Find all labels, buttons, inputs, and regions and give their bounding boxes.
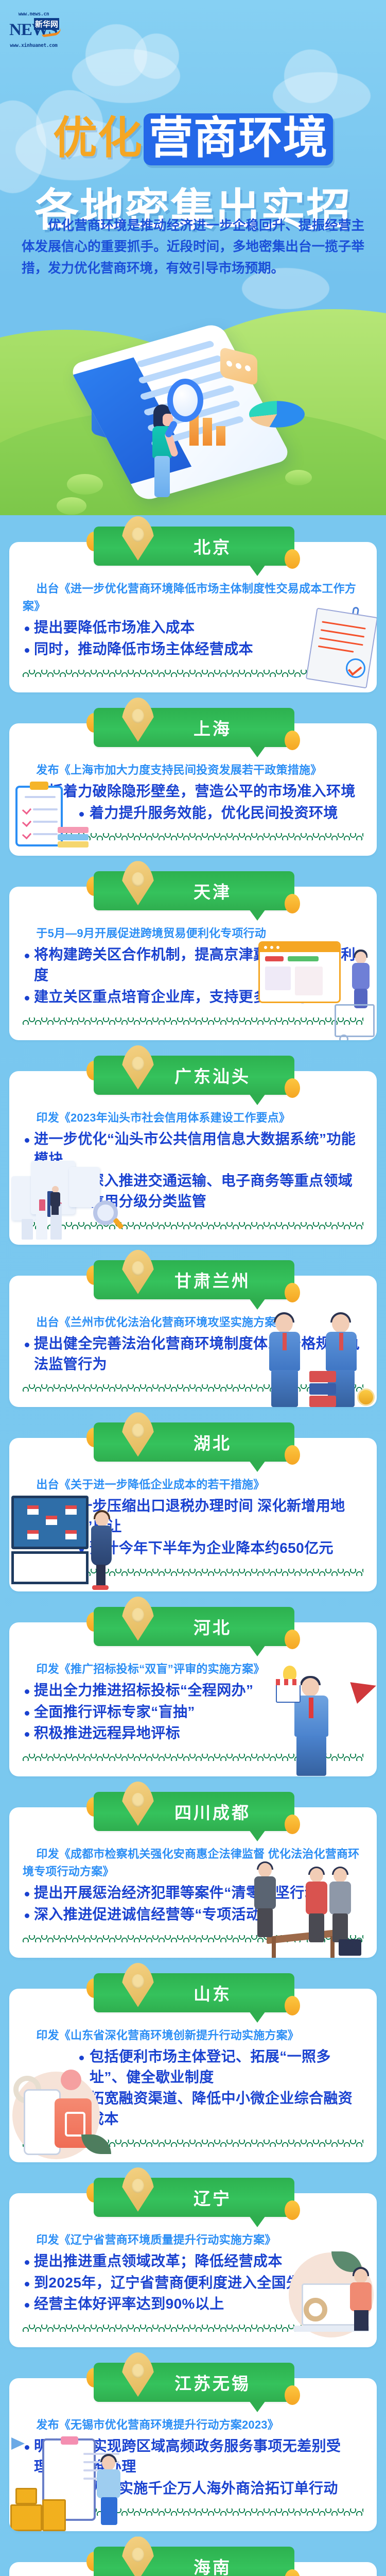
measure-bullet: 深入推进交通运输、电子商务等重点领域信用分级分类监管 [90,1171,363,1212]
hero-header: www.news.cn NEWS 新华网 www.xinhuanet.com 优… [0,0,386,515]
policy-document-title: 印发《山东省深化营商环境创新提升行动实施方案》 [23,2027,363,2044]
measures-list: 明确进一步压缩出口退税办理时间 深化新增用地“标准地”出让预计今年下半年为企业降… [23,1496,363,1558]
policy-document-title: 出台《进一步优化营商环境降低市场主体制度性交易成本工作方案》 [23,580,363,615]
region-tag-row: 北京 [9,515,377,569]
measures-list: 将构建跨关区合作机制，提高京津冀区域通关便利度建立关区重点培育企业库，支持更多企… [23,944,363,1007]
measure-bullet: 包括着力破除隐形壁垒，营造公平的市场准入环境 [23,781,363,802]
dot-decoration [285,1445,300,1465]
measures-list: 进一步优化“汕头市公共信用信息大数据系统”功能模块深入推进交通运输、电子商务等重… [23,1129,363,1212]
measure-bullet: 大力实施千企万人海外商洽拓订单行动 [90,2478,363,2499]
measures-list: 包括着力破除隐形壁垒，营造公平的市场准入环境着力提升服务效能，优化民间投资环境 [23,781,363,823]
measures-list: 明确推动实现跨区域高频政务服务事项无差别受理、同标准办理大力实施千企万人海外商洽… [23,2436,363,2498]
measure-bullet: 同时，推动降低市场主体经营成本 [23,639,363,659]
measure-bullet: 深入推进促进诚信经营等“专项活动” [23,1904,363,1925]
region-tag-row: 辽宁 [9,2166,377,2220]
hero-illustration [77,319,309,510]
policy-document-title: 发布《无锡市优化营商环境提升行动方案2023》 [23,2416,363,2434]
policy-document-title: 印发《成都市检察机关强化安商惠企法律监督 优化法治化营商环境专项行动方案》 [23,1845,363,1880]
dot-decoration [285,549,300,569]
title-part-2: 营商环境 [144,113,333,165]
dot-decoration [285,1815,300,1834]
policy-document-title: 印发《2023年汕头市社会信用体系建设工作要点》 [23,1109,363,1127]
measures-list: 包括便利市场主体登记、拓展“一照多址”、健全歇业制度拓宽融资渠道、降低中小微企业… [23,2046,363,2129]
policy-document-title: 发布《上海市加大力度支持民间投资发展若干政策措施》 [23,761,363,779]
dot-decoration [285,894,300,913]
measures-list: 提出开展惩治经济犯罪等案件“清零攻坚行动”深入推进促进诚信经营等“专项活动” [23,1883,363,1925]
measures-list: 提出推进重点领域改革；降低经营成本到2025年，辽宁省营商便利度进入全国先进行列… [23,2251,363,2314]
region-section: 海南 印发《热带雨林工程建设项目领域“极简审批”制度改革实施方案》 明确建设项目… [0,2535,386,2576]
measure-bullet: 建立关区重点培育企业库，支持更多企业享惠 [23,987,363,1007]
pie-chart-icon [249,391,305,438]
region-section: 四川成都 印发《成都市检察机关强化安商惠企法律监督 优化法治化营商环境专项行动方… [0,1781,386,1962]
cloud-decoration [273,72,371,120]
region-section: 辽宁 印发《辽宁省营商环境质量提升行动实施方案》 提出推进重点领域改革；降低经营… [0,2166,386,2351]
region-section: 山东 印发《山东省深化营商环境创新提升行动实施方案》 包括便利市场主体登记、拓展… [0,1962,386,2166]
measure-bullet: 着力提升服务效能，优化民间投资环境 [90,803,363,823]
region-tag-row: 天津 [9,860,377,913]
measure-bullet: 提出全力推进招标投标“全程网办” [23,1680,363,1701]
measures-list: 提出要降低市场准入成本同时，推动降低市场主体经营成本 [23,617,363,659]
infographic-page: www.news.cn NEWS 新华网 www.xinhuanet.com 优… [0,0,386,2576]
bush-decoration [57,497,86,515]
measure-bullet: 提出健全完善法治化营商环境制度体系 严格规范执法监管行为 [23,1333,363,1375]
cloud-decoration [72,49,180,103]
policy-document-title: 印发《辽宁省营商环境质量提升行动实施方案》 [23,2231,363,2249]
region-tag-row: 广东汕头 [9,1044,377,1098]
measure-bullet: 全面推行评标专家“盲抽” [23,1702,363,1722]
dot-decoration [285,2385,300,2405]
measure-bullet: 进一步优化“汕头市公共信用信息大数据系统”功能模块 [23,1129,363,1170]
measure-bullet: 积极推进远程异地评标 [23,1723,363,1743]
measure-bullet: 提出推进重点领域改革；降低经营成本 [23,2251,363,2272]
region-tag-row: 河北 [9,1596,377,1649]
squiggle-divider [23,1754,363,1761]
policy-document-title: 印发《推广招标投标“双盲”评审的实施方案》 [23,1660,363,1678]
measure-bullet: 明确进一步压缩出口退税办理时间 深化新增用地“标准地”出让 [23,1496,363,1537]
squiggle-divider [23,1569,363,1576]
measure-bullet: 提出要降低市场准入成本 [23,617,363,638]
measures-list: 提出健全完善法治化营商环境制度体系 严格规范执法监管行为 [23,1333,363,1375]
squiggle-divider [23,2509,363,2516]
dot-decoration [285,1996,300,2015]
title-part-1: 优化 [53,113,143,163]
dot-decoration [285,731,300,750]
magnifier-icon [167,379,203,422]
measure-bullet: 到2025年，辽宁省营商便利度进入全国先进行列 [23,2273,363,2293]
squiggle-divider [23,1384,363,1392]
logo-url-bottom: www.xinhuanet.com [9,43,58,48]
bush-decoration [285,470,312,485]
measures-list: 提出全力推进招标投标“全程网办”全面推行评标专家“盲抽”积极推进远程异地评标 [23,1680,363,1743]
measure-bullet: 包括便利市场主体登记、拓展“一照多址”、健全歇业制度 [90,2046,363,2088]
region-tag-row: 四川成都 [9,1781,377,1834]
dot-decoration [285,1283,300,1302]
region-section: 江苏无锡 发布《无锡市优化营商环境提升行动方案2023》 明确推动实现跨区域高频… [0,2351,386,2535]
region-tag-row: 湖北 [9,1411,377,1465]
bush-decoration [67,474,103,495]
region-tag-row: 山东 [9,1962,377,2015]
squiggle-divider [23,670,363,677]
dot-decoration [285,2200,300,2220]
policy-document-title: 出台《关于进一步降低企业成本的若干措施》 [23,1476,363,1494]
region-tag-row: 甘肃兰州 [9,1249,377,1302]
region-tag-row: 上海 [9,697,377,750]
measure-bullet: 提出开展惩治经济犯罪等案件“清零攻坚行动” [23,1883,363,1903]
person-with-magnifier [149,404,175,497]
squiggle-divider [23,1018,363,1025]
logo-mark: NEWS 新华网 [9,18,58,42]
measure-bullet: 预计今年下半年为企业降本约650亿元 [90,1538,363,1558]
measure-bullet: 将构建跨关区合作机制，提高京津冀区域通关便利度 [23,944,363,986]
region-section: 北京 出台《进一步优化营商环境降低市场主体制度性交易成本工作方案》 提出要降低市… [0,515,386,697]
region-section: 甘肃兰州 出台《兰州市优化法治化营商环境攻坚实施方案》 提出健全完善法治化营商环… [0,1249,386,1412]
squiggle-divider [23,2140,363,2147]
squiggle-divider [23,1935,363,1942]
measure-bullet: 明确推动实现跨区域高频政务服务事项无差别受理、同标准办理 [23,2436,363,2477]
squiggle-divider [23,2325,363,2332]
regions-list: 北京 出台《进一步优化营商环境降低市场主体制度性交易成本工作方案》 提出要降低市… [0,515,386,2576]
measure-bullet: 拓宽融资渠道、降低中小微企业综合融资成本 [90,2088,363,2129]
region-section: 广东汕头 印发《2023年汕头市社会信用体系建设工作要点》 进一步优化“汕头市公… [0,1044,386,1249]
region-section: 上海 发布《上海市加大力度支持民间投资发展若干政策措施》 包括着力破除隐形壁垒，… [0,697,386,860]
region-section: 天津 于5月—9月开展促进跨境贸易便利化专项行动 将构建跨关区合作机制，提高京津… [0,860,386,1044]
region-section: 湖北 出台《关于进一步降低企业成本的若干措施》 明确进一步压缩出口退税办理时间 … [0,1411,386,1595]
measure-bullet: 经营主体好评率达到90%以上 [23,2294,363,2314]
intro-paragraph: 优化营商环境是推动经济进一步企稳回升、提振经营主体发展信心的重要抓手。近段时间，… [22,215,364,279]
dot-decoration [285,1630,300,1649]
policy-document-title: 于5月—9月开展促进跨境贸易便利化专项行动 [23,925,363,942]
policy-document-title: 出台《兰州市优化法治化营商环境攻坚实施方案》 [23,1314,363,1331]
squiggle-divider [23,833,363,840]
region-section: 河北 印发《推广招标投标“双盲”评审的实施方案》 提出全力推进招标投标“全程网办… [0,1596,386,1781]
region-tag-row: 江苏无锡 [9,2351,377,2405]
dot-decoration [285,1078,300,1098]
xinhua-logo[interactable]: www.news.cn NEWS 新华网 www.xinhuanet.com [9,11,58,48]
logo-url-top: www.news.cn [9,11,58,17]
region-tag-row: 海南 [9,2535,377,2576]
squiggle-divider [23,1222,363,1229]
